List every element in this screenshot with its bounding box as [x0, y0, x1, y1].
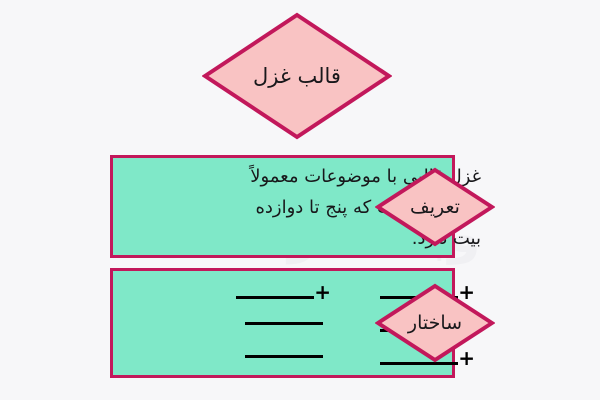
blank-rule: [236, 296, 314, 299]
plus-sign: +: [314, 282, 331, 302]
structure-row: + + + +: [110, 268, 495, 378]
page-title: قالب غزل: [202, 12, 392, 140]
definition-row: غزل قالبی با موضوعات معمولاً عاشقانه است…: [110, 155, 495, 258]
structure-badge: ساختار: [375, 283, 495, 363]
hemistich-left: [205, 355, 323, 362]
hemistich-left: +: [213, 282, 331, 303]
diagram-canvas: وبلاگ رسمی قالب غزل غزل قالبی با موضوعات…: [0, 0, 600, 400]
blank-rule: [245, 355, 323, 358]
structure-badge-label: ساختار: [375, 283, 495, 363]
title-diamond: قالب غزل: [202, 12, 392, 140]
definition-badge-label: تعریف: [375, 167, 495, 247]
definition-badge: تعریف: [375, 167, 495, 247]
hemistich-left: [205, 322, 323, 329]
blank-rule: [245, 322, 323, 325]
